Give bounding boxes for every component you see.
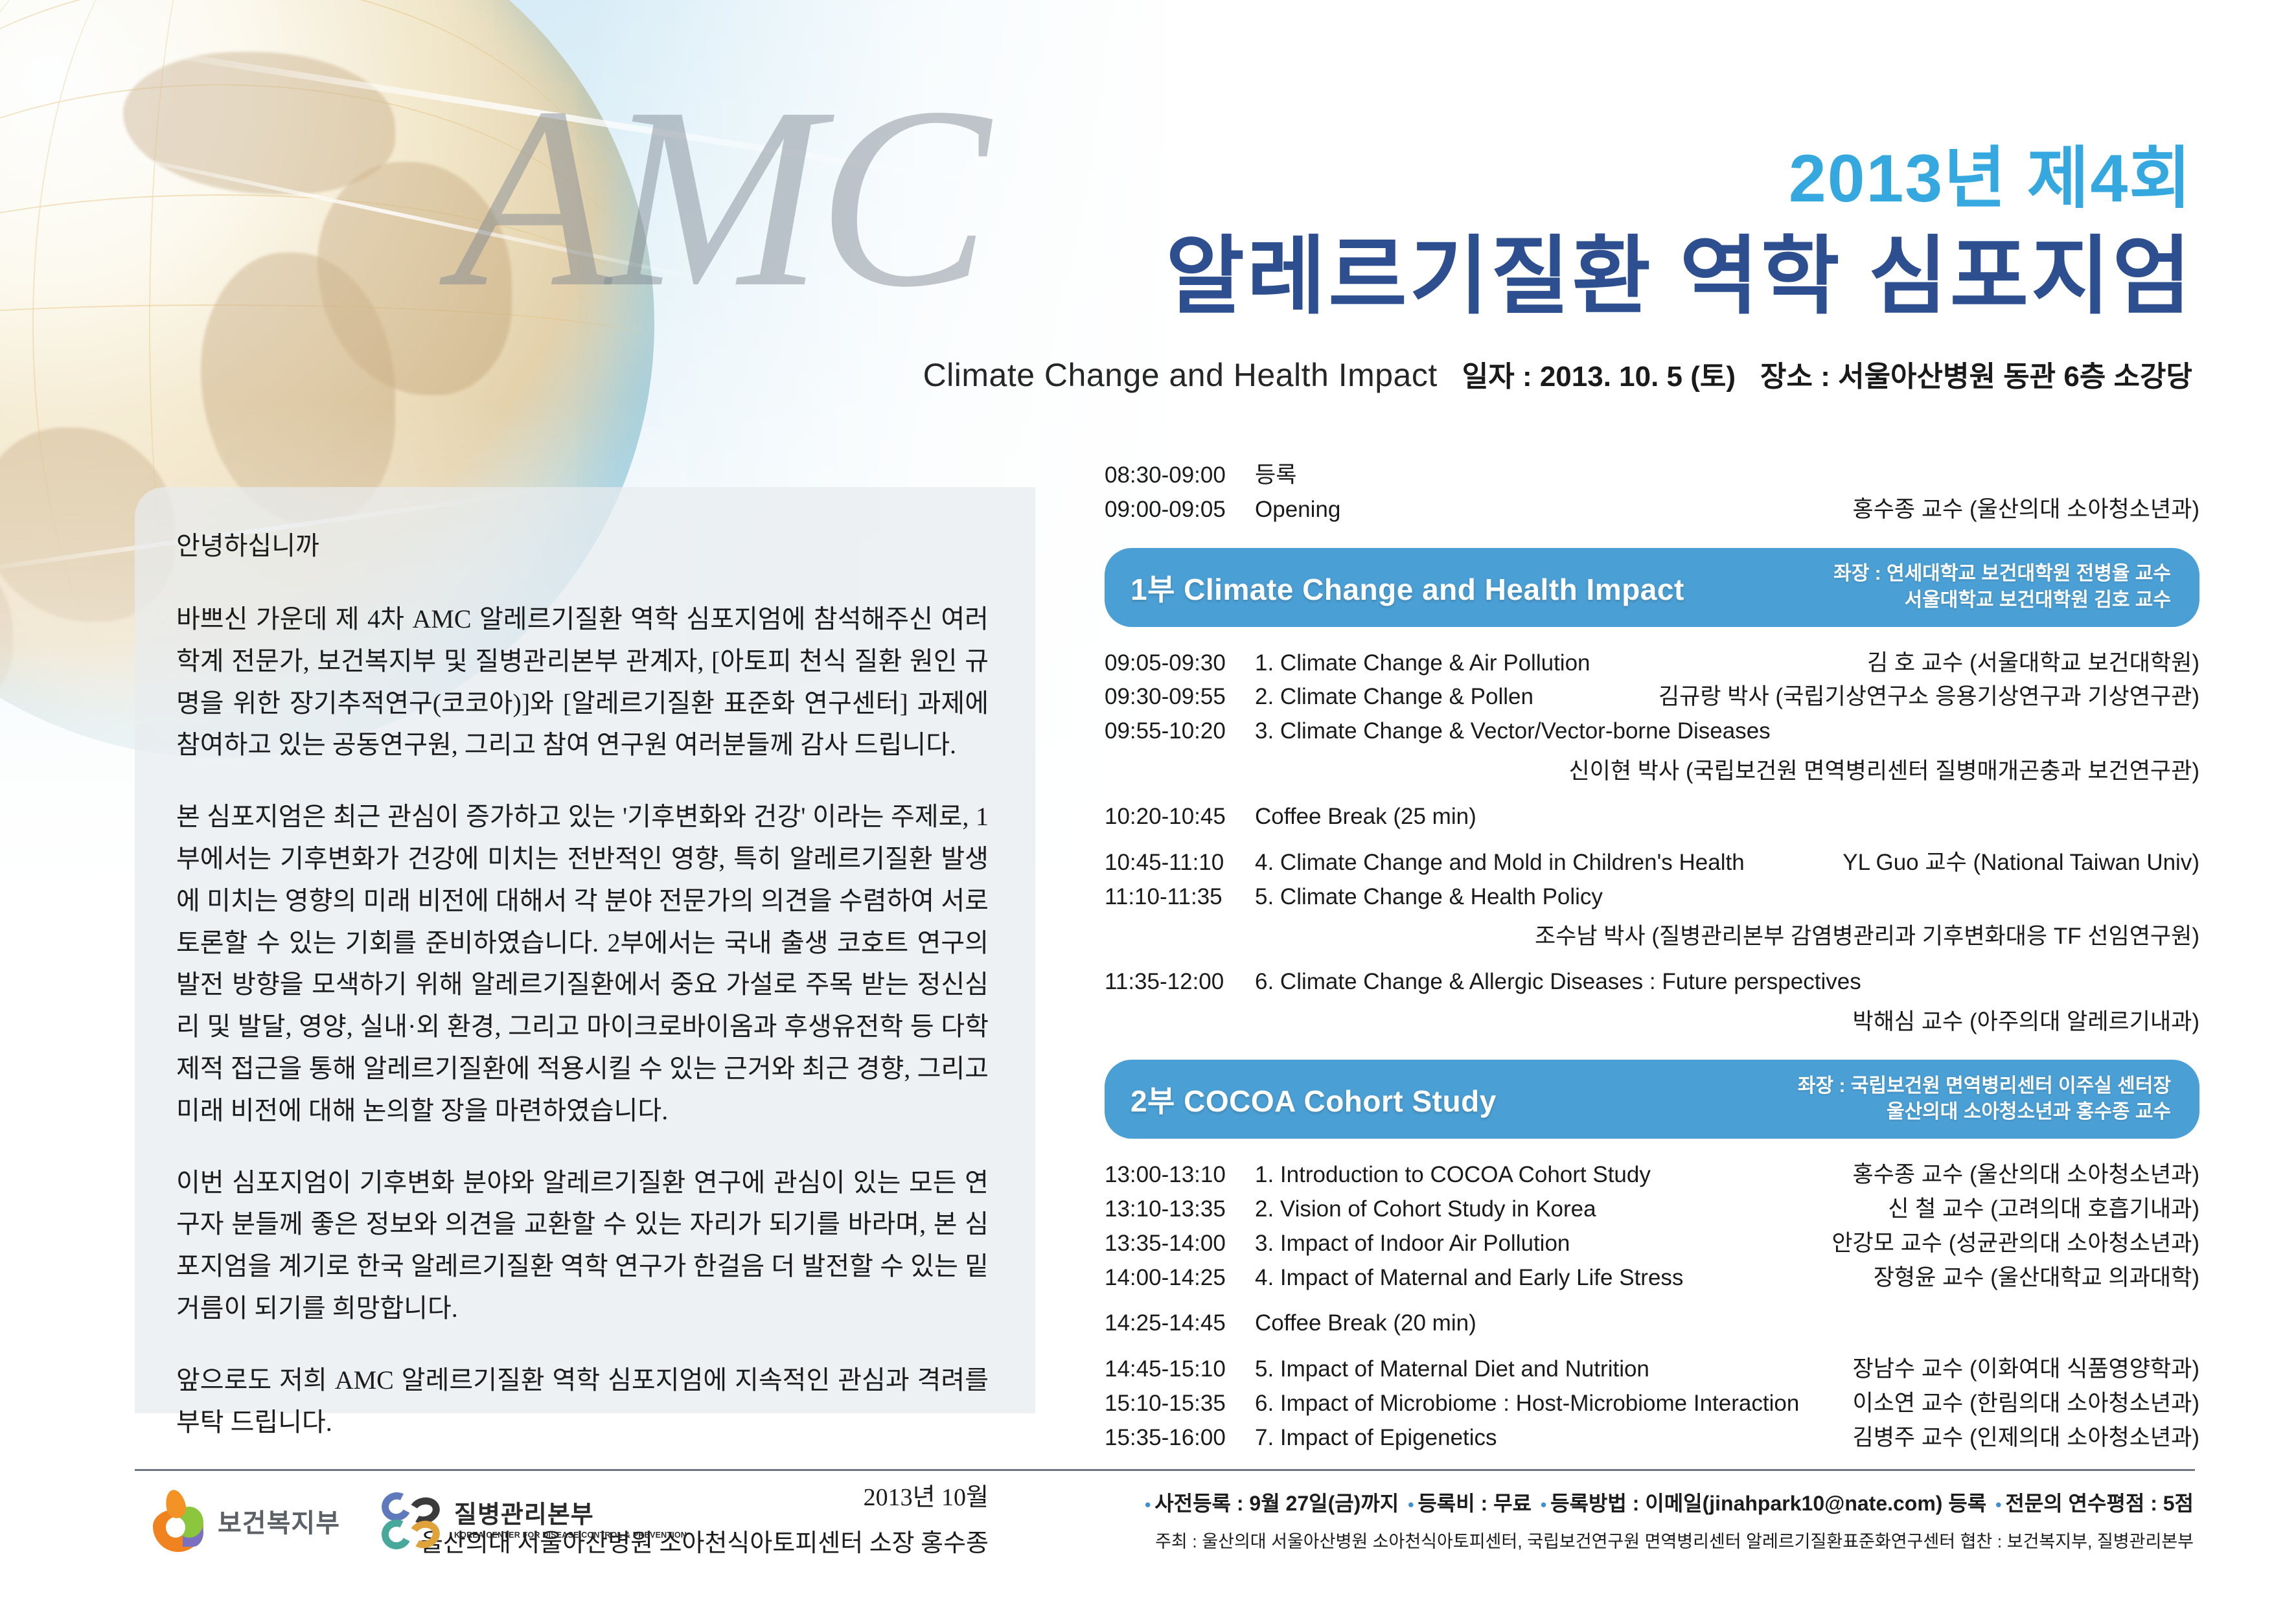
row-title: 5. Climate Change & Health Policy <box>1255 883 2199 912</box>
row-speaker: 홍수종 교수 (울산의대 소아청소년과) <box>1853 1161 2199 1190</box>
schedule-row: 15:10-15:35 6. Impact of Microbiome : Ho… <box>1105 1389 2199 1419</box>
schedule-row: 10:45-11:10 4. Climate Change and Mold i… <box>1105 849 2199 878</box>
row-title: 2. Climate Change & Pollen <box>1255 683 1659 712</box>
program-schedule: 08:30-09:00 등록 09:00-09:05 Opening 홍수종 교… <box>1105 461 2199 1453</box>
row-speaker: 장남수 교수 (이화여대 식품영양학과) <box>1853 1355 2199 1384</box>
row-speaker: 김병주 교수 (인제의대 소아청소년과) <box>1853 1424 2199 1453</box>
greeting-paragraph: 앞으로도 저희 AMC 알레르기질환 역학 심포지엄에 지속적인 관심과 격려를… <box>176 1360 989 1444</box>
row-time: 08:30-09:00 <box>1105 461 1255 490</box>
row-title: 7. Impact of Epigenetics <box>1255 1424 1853 1453</box>
row-title: 6. Impact of Microbiome : Host-Microbiom… <box>1255 1389 1853 1419</box>
part2-chair-2: 울산의대 소아청소년과 홍수종 교수 <box>1887 1101 2171 1123</box>
schedule-row: 15:35-16:00 7. Impact of Epigenetics 김병주… <box>1105 1424 2199 1453</box>
row-time: 14:25-14:45 <box>1105 1309 1255 1338</box>
greeting-paragraph: 바쁘신 가운데 제 4차 AMC 알레르기질환 역학 심포지엄에 참석해주신 여… <box>176 598 989 766</box>
row-speaker: 장형윤 교수 (울산대학교 의과대학) <box>1874 1264 2199 1293</box>
row-speaker: 김 호 교수 (서울대학교 보건대학원) <box>1867 649 2199 678</box>
row-title: 등록 <box>1255 461 2199 490</box>
mohw-label: 보건복지부 <box>218 1502 340 1540</box>
row-title: Coffee Break (25 min) <box>1255 803 2199 832</box>
schedule-row: 10:20-10:45 Coffee Break (25 min) <box>1105 803 2199 832</box>
row-title: 4. Climate Change and Mold in Children's… <box>1255 849 1843 878</box>
subtitle-english: Climate Change and Health Impact <box>923 356 1438 394</box>
part1-chair-2: 서울대학교 보건대학원 김호 교수 <box>1905 589 2171 611</box>
part2-chairs: 좌장 : 국립보건원 면역병리센터 이주실 센터장 울산의대 소아청소년과 홍수… <box>1798 1073 2171 1125</box>
row-title: Coffee Break (20 min) <box>1255 1309 2199 1338</box>
row-time: 09:00-09:05 <box>1105 496 1255 525</box>
schedule-row: 11:10-11:35 5. Climate Change & Health P… <box>1105 883 2199 912</box>
subtitle-row: Climate Change and Health Impact 일자 : 20… <box>923 353 2192 394</box>
kcdc-label-en: KOREA CENTER FOR DISEASE CONTROL & PREVE… <box>454 1531 687 1540</box>
footer-divider <box>135 1469 2195 1471</box>
row-time: 11:10-11:35 <box>1105 883 1255 912</box>
row-time: 13:35-14:00 <box>1105 1229 1255 1259</box>
row-time: 09:55-10:20 <box>1105 717 1255 746</box>
kcdc-label-kr: 질병관리본부 <box>454 1503 687 1527</box>
row-speaker: 안강모 교수 (성균관의대 소아청소년과) <box>1831 1229 2199 1259</box>
reg-item: 등록방법 : 이메일(jinahpark10@nate.com) 등록 <box>1550 1492 1986 1515</box>
part1-chair-1: 좌장 : 연세대학교 보건대학원 전병율 교수 <box>1833 563 2171 584</box>
part1-chairs: 좌장 : 연세대학교 보건대학원 전병율 교수 서울대학교 보건대학원 김호 교… <box>1833 561 2171 613</box>
row-speaker: 이소연 교수 (한림의대 소아청소년과) <box>1853 1389 2199 1419</box>
row-time: 10:20-10:45 <box>1105 803 1255 832</box>
greeting-paragraph: 이번 심포지엄이 기후변화 분야와 알레르기질환 연구에 관심이 있는 모든 연… <box>176 1162 989 1330</box>
amc-watermark: AMC <box>453 68 985 327</box>
row-time: 10:45-11:10 <box>1105 849 1255 878</box>
row-time: 15:10-15:35 <box>1105 1389 1255 1419</box>
row-time: 13:00-13:10 <box>1105 1161 1255 1190</box>
bullet-icon: • <box>1541 1495 1546 1514</box>
greeting-paragraph: 본 심포지엄은 최근 관심이 증가하고 있는 '기후변화와 건강' 이라는 주제… <box>176 796 989 1132</box>
reg-item: 등록비 : 무료 <box>1418 1492 1532 1515</box>
part1-title: 1부 Climate Change and Health Impact <box>1131 566 1684 609</box>
row-speaker: 박해심 교수 (아주의대 알레르기내과) <box>1105 1003 2199 1036</box>
event-venue: 장소 : 서울아산병원 동관 6층 소강당 <box>1760 353 2192 394</box>
schedule-row: 09:05-09:30 1. Climate Change & Air Poll… <box>1105 649 2199 678</box>
kcdc-emblem-icon <box>380 1490 442 1552</box>
reg-item: 사전등록 : 9월 27일(금)까지 <box>1154 1492 1399 1515</box>
row-time: 09:05-09:30 <box>1105 649 1255 678</box>
schedule-row: 08:30-09:00 등록 <box>1105 461 2199 490</box>
row-time: 15:35-16:00 <box>1105 1424 1255 1453</box>
part2-banner: 2부 COCOA Cohort Study 좌장 : 국립보건원 면역병리센터 … <box>1105 1060 2199 1139</box>
sponsor-logos: 보건복지부 질병관리본부 KOREA CENTER FOR DISEASE CO… <box>150 1490 687 1552</box>
row-speaker: 신 철 교수 (고려의대 호흡기내과) <box>1888 1195 2199 1224</box>
row-title: 6. Climate Change & Allergic Diseases : … <box>1255 968 2199 997</box>
row-speaker: 신이현 박사 (국립보건원 면역병리센터 질병매개곤충과 보건연구관) <box>1105 753 2199 786</box>
row-speaker: YL Guo 교수 (National Taiwan Univ) <box>1843 849 2199 878</box>
row-speaker: 조수남 박사 (질병관리본부 감염병관리과 기후변화대응 TF 선임연구원) <box>1105 918 2199 951</box>
logo-mohw: 보건복지부 <box>150 1490 340 1552</box>
year-heading: 2013년 제4회 <box>1789 123 2192 221</box>
row-time: 14:45-15:10 <box>1105 1355 1255 1384</box>
row-title: Opening <box>1255 496 1853 525</box>
schedule-row: 09:00-09:05 Opening 홍수종 교수 (울산의대 소아청소년과) <box>1105 496 2199 525</box>
greeting-panel: 안녕하십니까 바쁘신 가운데 제 4차 AMC 알레르기질환 역학 심포지엄에 … <box>135 487 1035 1413</box>
row-title: 1. Climate Change & Air Pollution <box>1255 649 1867 678</box>
schedule-row: 13:00-13:10 1. Introduction to COCOA Coh… <box>1105 1161 2199 1190</box>
kcdc-label-group: 질병관리본부 KOREA CENTER FOR DISEASE CONTROL … <box>454 1503 687 1540</box>
row-time: 09:30-09:55 <box>1105 683 1255 712</box>
bullet-icon: • <box>1145 1495 1151 1514</box>
schedule-row: 13:10-13:35 2. Vision of Cohort Study in… <box>1105 1195 2199 1224</box>
schedule-row: 09:30-09:55 2. Climate Change & Pollen 김… <box>1105 683 2199 712</box>
logo-kcdc: 질병관리본부 KOREA CENTER FOR DISEASE CONTROL … <box>380 1490 687 1552</box>
part2-title: 2부 COCOA Cohort Study <box>1131 1078 1497 1121</box>
page-title: 알레르기질환 역학 심포지엄 <box>1165 207 2194 331</box>
registration-info: •사전등록 : 9월 27일(금)까지•등록비 : 무료•등록방법 : 이메일(… <box>1145 1487 2194 1553</box>
part1-banner: 1부 Climate Change and Health Impact 좌장 :… <box>1105 548 2199 627</box>
symposium-poster: AMC 2013년 제4회 알레르기질환 역학 심포지엄 Climate Cha… <box>0 0 2296 1607</box>
row-time: 13:10-13:35 <box>1105 1195 1255 1224</box>
schedule-row: 13:35-14:00 3. Impact of Indoor Air Poll… <box>1105 1229 2199 1259</box>
row-title: 1. Introduction to COCOA Cohort Study <box>1255 1161 1853 1190</box>
reg-item: 전문의 연수평점 : 5점 <box>2005 1492 2194 1515</box>
greeting-salutation: 안녕하십니까 <box>176 525 989 562</box>
mohw-emblem-icon <box>150 1490 206 1552</box>
row-title: 3. Impact of Indoor Air Pollution <box>1255 1229 1831 1259</box>
schedule-row: 11:35-12:00 6. Climate Change & Allergic… <box>1105 968 2199 997</box>
row-title: 4. Impact of Maternal and Early Life Str… <box>1255 1264 1874 1293</box>
row-speaker: 김규랑 박사 (국립기상연구소 응용기상연구과 기상연구관) <box>1659 683 2199 712</box>
row-time: 11:35-12:00 <box>1105 968 1255 997</box>
row-title: 2. Vision of Cohort Study in Korea <box>1255 1195 1888 1224</box>
organizers-line: 주최 : 울산의대 서울아산병원 소아천식아토피센터, 국립보건연구원 면역병리… <box>1145 1527 2194 1553</box>
schedule-row: 14:45-15:10 5. Impact of Maternal Diet a… <box>1105 1355 2199 1384</box>
row-time: 14:00-14:25 <box>1105 1264 1255 1293</box>
bullet-icon: • <box>1408 1495 1414 1514</box>
registration-items: •사전등록 : 9월 27일(금)까지•등록비 : 무료•등록방법 : 이메일(… <box>1145 1487 2194 1517</box>
schedule-row: 09:55-10:20 3. Climate Change & Vector/V… <box>1105 717 2199 746</box>
part2-chair-1: 좌장 : 국립보건원 면역병리센터 이주실 센터장 <box>1798 1075 2171 1097</box>
event-date: 일자 : 2013. 10. 5 (토) <box>1462 353 1736 394</box>
row-speaker: 홍수종 교수 (울산의대 소아청소년과) <box>1853 496 2199 525</box>
row-title: 3. Climate Change & Vector/Vector-borne … <box>1255 717 2199 746</box>
schedule-row: 14:25-14:45 Coffee Break (20 min) <box>1105 1309 2199 1338</box>
schedule-row: 14:00-14:25 4. Impact of Maternal and Ea… <box>1105 1264 2199 1293</box>
row-title: 5. Impact of Maternal Diet and Nutrition <box>1255 1355 1853 1384</box>
bullet-icon: • <box>1995 1495 2001 1514</box>
